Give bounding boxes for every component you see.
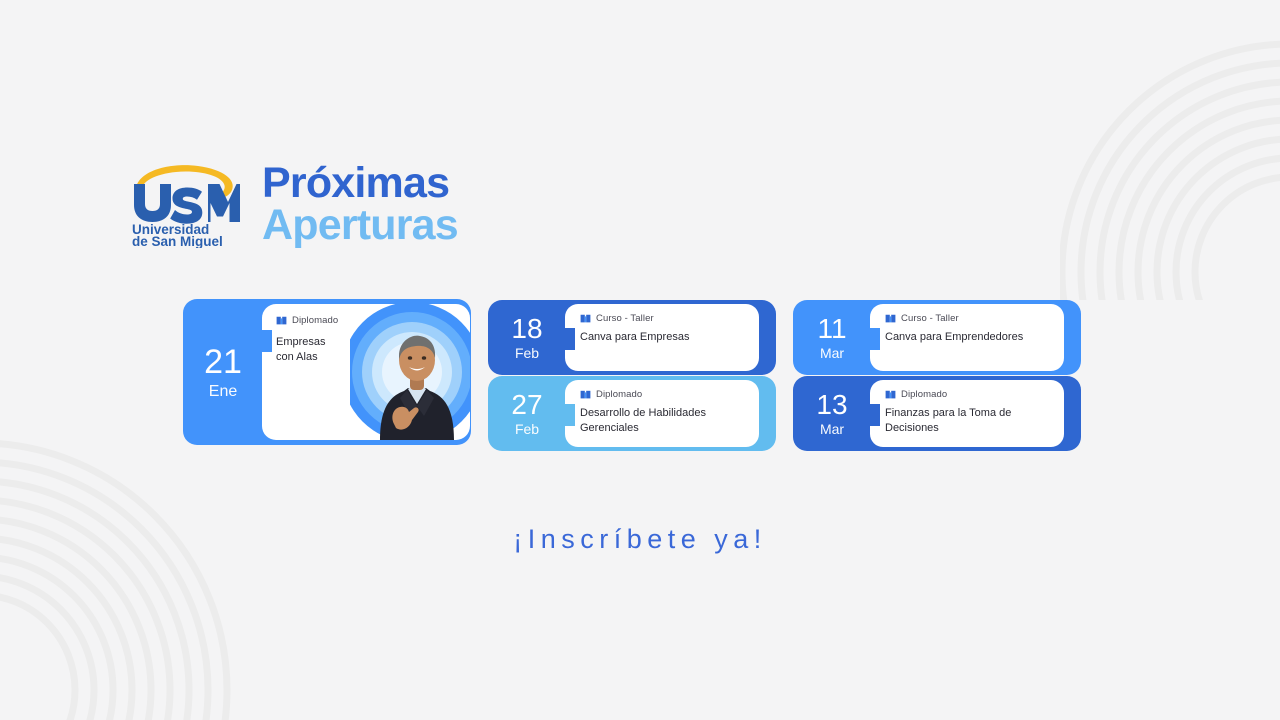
event-month: Ene bbox=[209, 384, 237, 400]
event-title-line: Gerenciales bbox=[580, 422, 639, 434]
book-icon bbox=[580, 390, 591, 400]
event-title-line: Empresas bbox=[276, 336, 326, 348]
page-header: Universidad de San Miguel Próximas Apert… bbox=[128, 160, 458, 248]
event-title-line: Decisiones bbox=[885, 422, 939, 434]
event-card-21-ene[interactable]: 21 Ene bbox=[183, 299, 471, 445]
event-day: 27 bbox=[511, 391, 542, 419]
logo-line2: de San Miguel bbox=[132, 234, 223, 248]
event-day: 21 bbox=[204, 345, 242, 379]
event-title: Empresas con Alas bbox=[276, 335, 380, 364]
event-badge: Curso - Taller bbox=[580, 313, 749, 324]
badge-label: Curso - Taller bbox=[596, 313, 654, 324]
event-title-line: Finanzas para la Toma de bbox=[885, 407, 1011, 419]
badge-label: Curso - Taller bbox=[901, 313, 959, 324]
book-icon bbox=[885, 314, 896, 324]
event-title: Canva para Empresas bbox=[580, 330, 749, 345]
event-title: Desarrollo de Habilidades Gerenciales bbox=[580, 406, 749, 435]
page-title: Próximas Aperturas bbox=[262, 162, 458, 246]
usm-logo: Universidad de San Miguel bbox=[128, 160, 240, 248]
event-title-line: con Alas bbox=[276, 351, 318, 363]
event-card-11-mar[interactable]: 11 Mar Curso - Taller Canva para Emprend… bbox=[793, 300, 1081, 375]
cta-inscribete[interactable]: ¡Inscríbete ya! bbox=[0, 524, 1280, 555]
event-title-line: Desarrollo de Habilidades bbox=[580, 407, 706, 419]
event-month: Feb bbox=[515, 422, 539, 436]
date-column: 13 Mar bbox=[793, 376, 871, 451]
event-day: 18 bbox=[511, 315, 542, 343]
event-month: Mar bbox=[820, 422, 844, 436]
event-month: Mar bbox=[820, 346, 844, 360]
arcs-top-right bbox=[1062, 44, 1280, 500]
badge-label: Diplomado bbox=[596, 389, 642, 400]
date-column: 27 Feb bbox=[488, 376, 566, 451]
event-detail-panel: Diplomado Desarrollo de Habilidades Gere… bbox=[565, 380, 759, 447]
event-title: Finanzas para la Toma de Decisiones bbox=[885, 406, 1054, 435]
event-card-27-feb[interactable]: 27 Feb Diplomado Desarrollo de Habilidad… bbox=[488, 376, 776, 451]
event-month: Feb bbox=[515, 346, 539, 360]
event-title: Canva para Emprendedores bbox=[885, 330, 1054, 345]
badge-label: Diplomado bbox=[901, 389, 947, 400]
date-column: 21 Ene bbox=[183, 299, 263, 445]
book-icon bbox=[276, 316, 287, 326]
book-icon bbox=[580, 314, 591, 324]
event-detail-panel: Curso - Taller Canva para Empresas bbox=[565, 304, 759, 371]
event-badge: Diplomado bbox=[885, 389, 1054, 400]
date-column: 11 Mar bbox=[793, 300, 871, 375]
event-badge: Diplomado bbox=[276, 315, 458, 326]
event-badge: Diplomado bbox=[580, 389, 749, 400]
badge-label: Diplomado bbox=[292, 315, 338, 326]
book-icon bbox=[885, 390, 896, 400]
event-card-18-feb[interactable]: 18 Feb Curso - Taller Canva para Empresa… bbox=[488, 300, 776, 375]
event-detail-panel: Curso - Taller Canva para Emprendedores bbox=[870, 304, 1064, 371]
date-column: 18 Feb bbox=[488, 300, 566, 375]
event-badge: Curso - Taller bbox=[885, 313, 1054, 324]
title-line-proximas: Próximas bbox=[262, 162, 458, 204]
event-day: 13 bbox=[816, 391, 847, 419]
event-detail-panel: Diplomado Empresas con Alas bbox=[262, 304, 470, 440]
arcs-bottom-left bbox=[0, 443, 227, 720]
event-card-13-mar[interactable]: 13 Mar Diplomado Finanzas para la Toma d… bbox=[793, 376, 1081, 451]
event-day: 11 bbox=[817, 315, 846, 343]
title-line-aperturas: Aperturas bbox=[262, 204, 458, 246]
event-detail-panel: Diplomado Finanzas para la Toma de Decis… bbox=[870, 380, 1064, 447]
